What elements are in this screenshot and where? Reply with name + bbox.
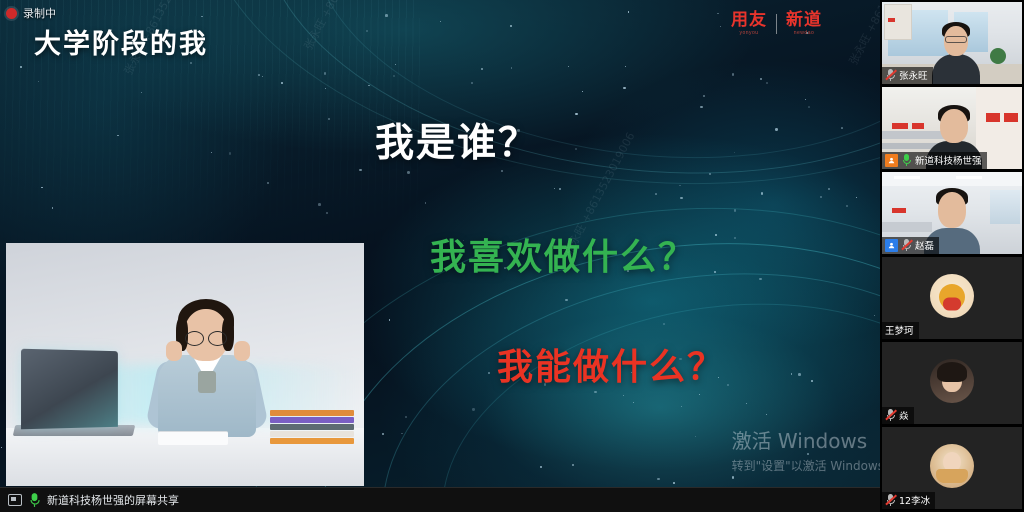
slide-watermark: 张永旺 +8613523019006	[300, 0, 378, 53]
star-dot	[582, 91, 583, 92]
redboard-decor	[892, 208, 906, 213]
star-dot	[808, 106, 810, 108]
microphone-muted-icon	[885, 494, 896, 506]
star-dot	[401, 433, 403, 435]
recording-label: 录制中	[23, 5, 56, 21]
star-dot	[572, 464, 574, 466]
star-dot	[594, 391, 597, 394]
star-dot	[318, 203, 321, 206]
logo-yonyou-cn: 用友	[731, 12, 767, 29]
avatar	[930, 274, 974, 318]
photo-book-stack	[270, 410, 354, 444]
photo-person-hand	[234, 341, 250, 361]
star-dot	[324, 72, 326, 74]
host-badge-icon	[885, 154, 898, 167]
star-dot	[720, 26, 721, 27]
photo-glasses-icon	[185, 331, 227, 344]
star-dot	[328, 118, 330, 120]
star-dot	[325, 88, 326, 89]
microphone-muted-icon	[885, 69, 896, 81]
star-dot	[382, 433, 384, 435]
avatar	[930, 359, 974, 403]
slide-watermark: 张永旺 +8613523019006	[845, 0, 880, 68]
slide-title: 大学阶段的我	[34, 22, 208, 61]
participant-name: 12李冰	[899, 493, 930, 507]
window-decor	[990, 190, 1020, 224]
star-dot	[366, 30, 369, 33]
star-dot	[568, 66, 569, 67]
star-dot	[368, 85, 369, 86]
ceiling-light-decor	[956, 176, 982, 179]
participant-tile-0[interactable]: 张永旺	[882, 2, 1022, 84]
star-dot	[38, 81, 39, 82]
redboard-decor	[912, 123, 924, 129]
star-dot	[117, 135, 118, 136]
microphone-muted-icon	[885, 409, 896, 421]
participant-name: 赵磊	[915, 238, 934, 252]
star-dot	[267, 182, 269, 184]
star-dot	[211, 152, 212, 153]
participant-name: 新道科技杨世强	[915, 153, 982, 167]
photo-open-book	[158, 431, 228, 445]
star-dot	[262, 76, 263, 77]
microphone-muted-icon	[901, 239, 912, 251]
logo-yonyou: 用友 yonyou	[731, 12, 767, 36]
participant-name: 焱	[899, 408, 909, 422]
star-dot	[856, 197, 857, 198]
star-dot	[681, 406, 682, 407]
participant-name-bar: 张永旺	[882, 67, 933, 84]
shared-screen-area[interactable]: 用友 yonyou 新道 newdao 大学阶段的我 我是谁？ 我喜欢做什么？ …	[0, 0, 880, 487]
person-head	[938, 192, 966, 228]
star-dot	[393, 75, 395, 77]
slide-question-list: 我是谁？ 我喜欢做什么？ 我能做什么？	[375, 112, 845, 390]
star-dot	[623, 395, 624, 396]
star-dot	[326, 212, 328, 214]
star-dot	[141, 92, 142, 93]
star-dot	[703, 95, 705, 97]
star-dot	[874, 315, 875, 316]
star-dot	[766, 414, 767, 415]
star-dot	[695, 436, 696, 437]
zoom-meeting-window: 用友 yonyou 新道 newdao 大学阶段的我 我是谁？ 我喜欢做什么？ …	[0, 0, 1024, 512]
star-dot	[41, 187, 43, 189]
star-dot	[229, 152, 231, 154]
logo-decor	[1004, 113, 1018, 122]
star-dot	[807, 453, 809, 455]
plant-decor	[990, 48, 1006, 64]
participant-name: 张永旺	[899, 68, 928, 82]
desk-decor	[882, 222, 932, 232]
shelf-decor	[884, 4, 912, 40]
star-dot	[1, 447, 2, 448]
photo-person-tie	[198, 371, 216, 393]
participant-name: 王梦珂	[885, 323, 914, 337]
star-dot	[657, 478, 659, 480]
participant-tile-4[interactable]: 焱	[882, 342, 1022, 424]
recording-indicator[interactable]: 录制中	[6, 5, 56, 21]
participant-name-bar: 赵磊	[882, 237, 939, 254]
redboard-decor	[892, 123, 908, 129]
star-dot	[201, 16, 203, 18]
star-dot	[732, 73, 734, 75]
ceiling-decor	[882, 172, 1022, 186]
star-dot	[281, 82, 283, 84]
brand-logo: 用友 yonyou 新道 newdao	[731, 12, 822, 36]
star-dot	[699, 394, 700, 395]
glasses-icon	[945, 36, 967, 43]
participant-tile-2[interactable]: 赵磊	[882, 172, 1022, 254]
participant-sidebar[interactable]: 张永旺 新道科技杨世强	[880, 0, 1024, 512]
slide-photo	[6, 243, 364, 486]
star-dot	[258, 74, 260, 76]
screen-share-icon	[8, 494, 22, 506]
microphone-icon	[901, 154, 912, 166]
record-dot-icon	[6, 8, 17, 19]
user-badge-icon	[885, 239, 898, 252]
star-dot	[20, 66, 22, 68]
redboard-decor	[888, 18, 895, 22]
participant-name-bar: 新道科技杨世强	[882, 152, 987, 169]
avatar	[930, 444, 974, 488]
logo-divider	[776, 14, 777, 34]
star-dot	[52, 207, 54, 209]
star-dot	[385, 14, 388, 17]
star-dot	[190, 62, 192, 64]
star-dot	[471, 82, 474, 85]
star-dot	[717, 13, 718, 14]
presentation-slide: 用友 yonyou 新道 newdao 大学阶段的我 我是谁？ 我喜欢做什么？ …	[0, 0, 880, 487]
star-dot	[732, 476, 735, 479]
slide-question-3: 我能做什么？	[497, 338, 845, 390]
person-head	[940, 109, 968, 143]
screen-share-status-bar[interactable]: 新道科技杨世强的屏幕共享	[0, 487, 880, 512]
screen-share-label: 新道科技杨世强的屏幕共享	[47, 492, 179, 508]
photo-person-hand	[166, 341, 182, 361]
photo-laptop-screen	[21, 349, 118, 430]
star-dot	[628, 11, 630, 13]
participant-tile-1[interactable]: 新道科技杨世强	[882, 87, 1022, 169]
star-dot	[746, 403, 747, 404]
star-dot	[625, 66, 626, 67]
star-dot	[511, 67, 512, 68]
star-dot	[440, 21, 441, 22]
star-dot	[623, 87, 625, 89]
star-dot	[472, 408, 474, 410]
star-dot	[481, 68, 483, 70]
star-dot	[510, 25, 512, 27]
participant-name-bar: 12李冰	[882, 492, 935, 509]
microphone-icon	[28, 493, 41, 507]
slide-question-2: 我喜欢做什么？	[430, 228, 845, 280]
participant-name-bar: 王梦珂	[882, 322, 919, 339]
logo-newdao-en: newdao	[794, 31, 815, 36]
participant-name-bar: 焱	[882, 407, 914, 424]
slide-question-1: 我是谁？	[375, 112, 845, 168]
star-dot	[700, 106, 702, 108]
star-dot	[805, 99, 806, 100]
star-dot	[846, 205, 849, 208]
star-dot	[540, 466, 541, 467]
star-dot	[359, 169, 362, 172]
participant-tile-3[interactable]: 王梦珂	[882, 257, 1022, 339]
logo-newdao: 新道 newdao	[786, 12, 822, 36]
star-dot	[673, 482, 675, 484]
star-dot	[633, 402, 634, 403]
star-dot	[395, 64, 396, 65]
participant-tile-5[interactable]: 12李冰	[882, 427, 1022, 509]
ceiling-light-decor	[894, 176, 920, 179]
star-dot	[760, 78, 762, 80]
desk-decor	[882, 131, 944, 139]
logo-newdao-cn: 新道	[786, 12, 822, 29]
logo-decor	[986, 113, 1000, 122]
logo-yonyou-en: yonyou	[739, 31, 758, 36]
star-dot	[766, 82, 768, 84]
star-dot	[405, 416, 408, 419]
